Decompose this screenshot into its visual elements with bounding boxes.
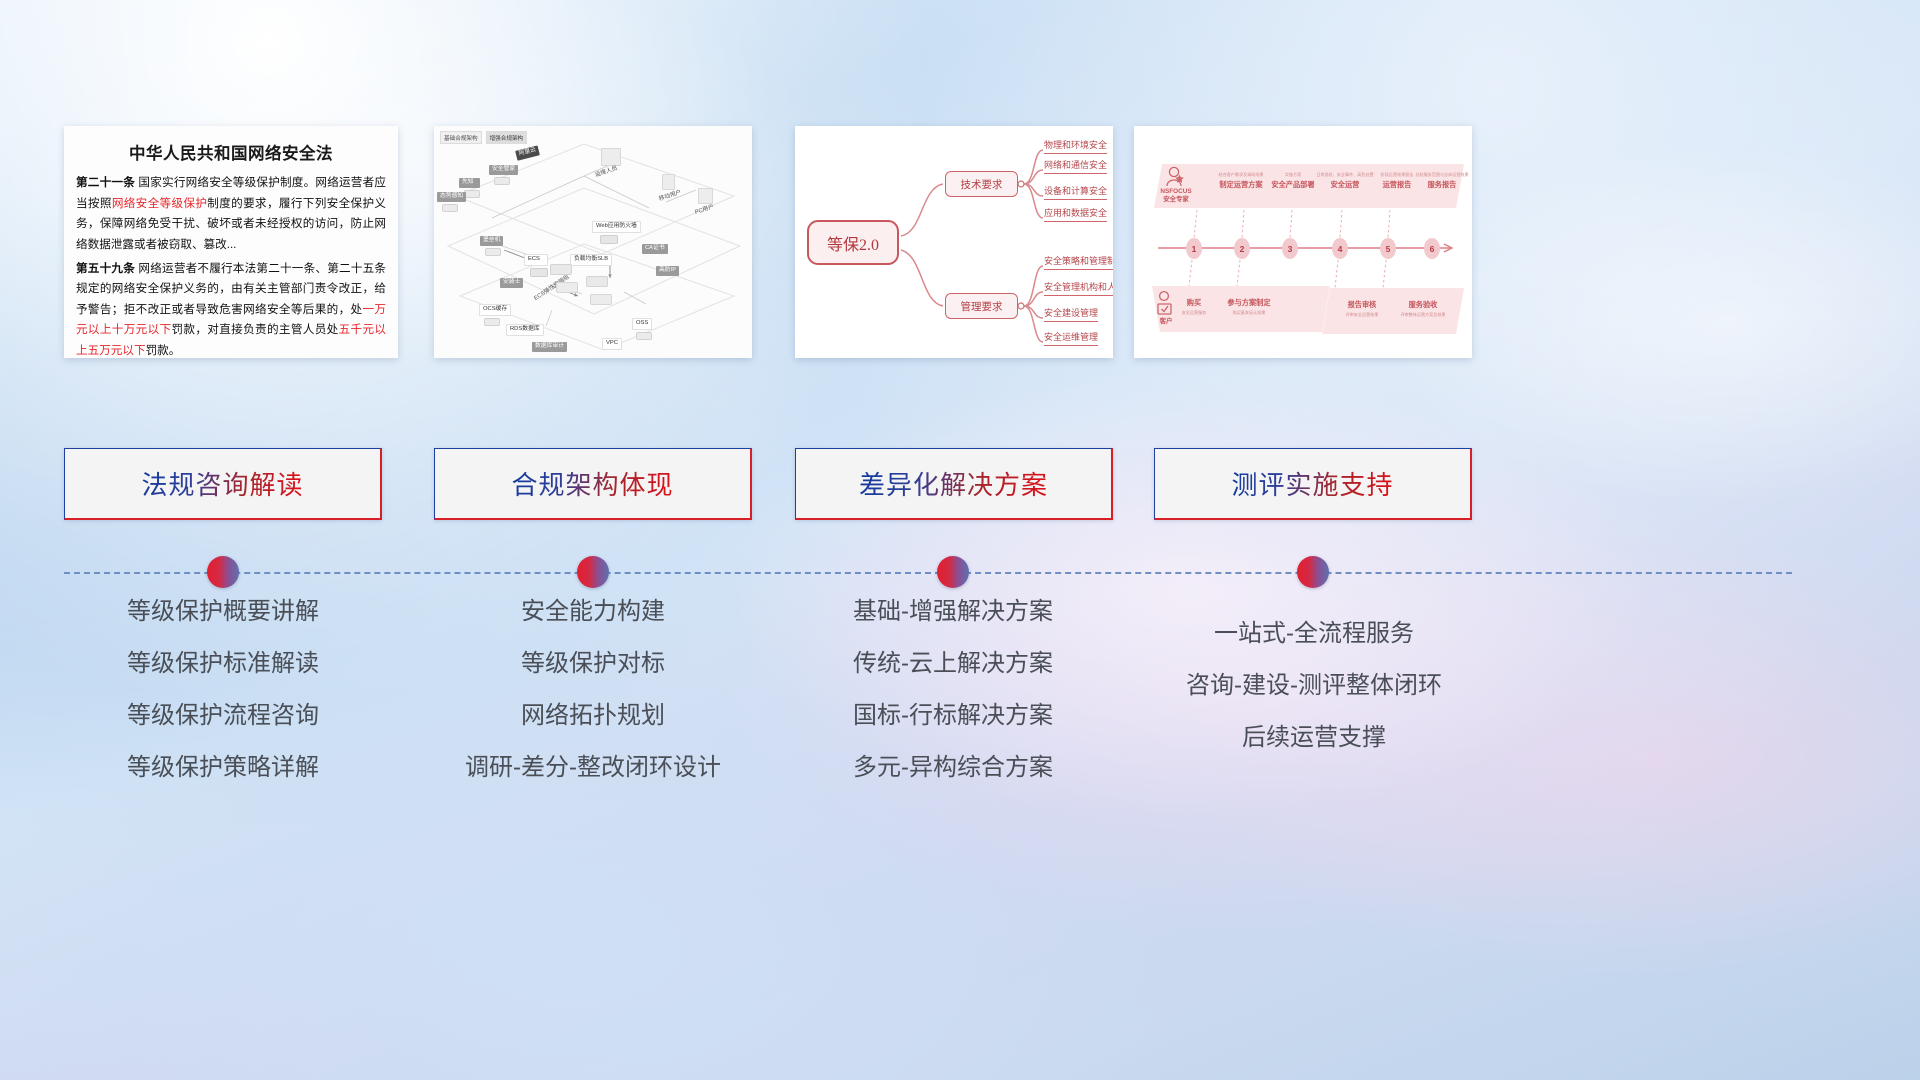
node-ocs-cache: OCS缓存 <box>479 304 511 326</box>
nsfocus-bottom-step-3-main: 报告审核 <box>1334 300 1390 310</box>
node-ocs-cache-label: OCS缓存 <box>479 304 511 316</box>
header-compliance-architecture[interactable]: 合规架构体现 <box>434 448 752 520</box>
header-regulation-consulting-label: 法规咨询解读 <box>141 465 303 502</box>
card-nsfocus-service-timeline[interactable]: NSFOCUS 安全专家 客户 结合客户需求及调研成果 制定运营方案 实施方案 … <box>1134 126 1472 358</box>
nsfocus-top-step-5-sub: 总结服务范围与总体运营效果 <box>1414 172 1470 178</box>
node-mobile-user: 移动用户 <box>656 174 685 202</box>
section-headers-row: 法规咨询解读 合规架构体现 差异化解决方案 测评实施支持 <box>0 448 1920 528</box>
node-anqishi: 安骑士 <box>500 278 523 288</box>
node-vpc: VPC <box>602 338 622 350</box>
header-regulation-consulting[interactable]: 法规咨询解读 <box>64 448 382 520</box>
node-bastion-host-label: 堡垒机 <box>480 236 503 246</box>
list-item: 多元-异构综合方案 <box>793 756 1113 780</box>
header-differentiated-solution-label: 差异化解决方案 <box>859 465 1048 502</box>
preview-cards-row: 中华人民共和国网络安全法 第二十一条 国家实行网络安全等级保护制度。网络运营者应… <box>0 0 1920 440</box>
list-item: 调研-差分-整改闭环设计 <box>433 756 753 780</box>
nsfocus-bottom-step-4-main: 服务验收 <box>1392 300 1454 310</box>
list-item: 等级保护标准解读 <box>63 652 383 676</box>
node-security-butler-label: 安全管家 <box>489 165 518 175</box>
nsfocus-brand-line2: 安全专家 <box>1152 196 1200 204</box>
timeline-dot-1[interactable] <box>207 556 239 588</box>
architecture-tabs[interactable]: 基础合规架构 增强合规架构 <box>440 131 527 144</box>
timeline-dot-4[interactable] <box>1297 556 1329 588</box>
nsfocus-bottom-step-4-sub: 评审整体运营方案及效果 <box>1392 312 1454 318</box>
article-59-label: 第五十九条 <box>76 262 135 275</box>
list-column-architecture: 安全能力构建 等级保护对标 网络拓扑规划 调研-差分-整改闭环设计 <box>433 600 753 808</box>
timeline-dot-3[interactable] <box>937 556 969 588</box>
header-assessment-support-label: 测评实施支持 <box>1231 465 1393 502</box>
card-cybersecurity-law[interactable]: 中华人民共和国网络安全法 第二十一条 国家实行网络安全等级保护制度。网络运营者应… <box>64 126 398 358</box>
mindmap-leaf-mgmt-3: 安全建设管理 <box>1044 306 1098 322</box>
nsfocus-customer-label: 客户 <box>1154 316 1178 325</box>
node-slb-label: 负载均衡SLB <box>570 254 612 266</box>
mindmap-branch-management: 管理要求 <box>945 293 1018 319</box>
node-ca-certificate: CA证书 <box>642 244 668 254</box>
node-box-c <box>586 276 608 287</box>
mindmap-branch-technical: 技术要求 <box>945 171 1018 197</box>
nsfocus-step-number-5: 5 <box>1380 238 1396 259</box>
mindmap-leaf-mgmt-2: 安全管理机构和人员 <box>1044 280 1113 296</box>
nsfocus-step-number-1: 1 <box>1186 238 1202 259</box>
node-box-b <box>556 282 578 293</box>
mindmap-root: 等保2.0 <box>807 220 899 265</box>
nsfocus-step-number-4: 4 <box>1332 238 1348 259</box>
list-item: 网络拓扑规划 <box>433 704 753 728</box>
node-anti-ddos-ip: 高防IP <box>656 266 679 276</box>
nsfocus-top-step-5: 总结服务范围与总体运营效果 服务报告 <box>1414 172 1470 190</box>
list-item: 国标-行标解决方案 <box>793 704 1113 728</box>
mindmap-leaf-tech-3: 设备和计算安全 <box>1044 184 1107 200</box>
mindmap-leaf-tech-2: 网络和通信安全 <box>1044 158 1107 174</box>
nsfocus-bottom-step-3-sub: 评审安全运营效果 <box>1334 312 1390 318</box>
node-anqishi-label: 安骑士 <box>500 278 523 288</box>
list-item: 后续运营支撑 <box>1146 726 1482 750</box>
node-rds-database-label: RDS数据库 <box>506 324 544 336</box>
timeline-dashed-line <box>64 572 1792 574</box>
nsfocus-step-number-6: 6 <box>1424 238 1440 259</box>
node-anti-ddos-ip-label: 高防IP <box>656 266 679 276</box>
nsfocus-step-number-2: 2 <box>1234 238 1250 259</box>
list-item: 咨询-建设-测评整体闭环 <box>1146 674 1482 698</box>
node-situational-awareness: 态势感知 <box>437 192 466 212</box>
node-ecs-label: ECS <box>524 254 548 266</box>
node-situational-awareness-label: 态势感知 <box>437 192 466 202</box>
header-compliance-architecture-label: 合规架构体现 <box>511 465 673 502</box>
node-ecs: ECS <box>524 254 548 277</box>
node-database-audit-label: 数据库审计 <box>532 342 567 352</box>
node-security-butler: 安全管家 <box>489 165 518 185</box>
node-slb: 负载均衡SLB <box>570 254 612 266</box>
card-compliance-architecture[interactable]: 基础合规架构 增强合规架构 阿里云 安全管家 先知 态势感知 <box>434 126 752 358</box>
nsfocus-timeline: NSFOCUS 安全专家 客户 结合客户需求及调研成果 制定运营方案 实施方案 … <box>1134 126 1472 358</box>
nsfocus-bottom-step-1-sub: 安全运营服务 <box>1174 310 1214 316</box>
nsfocus-bottom-step-2-main: 参与方案制定 <box>1218 298 1280 308</box>
tab-basic-architecture[interactable]: 基础合规架构 <box>440 131 482 144</box>
list-item: 等级保护流程咨询 <box>63 704 383 728</box>
timeline <box>0 540 1920 606</box>
nsfocus-brand: NSFOCUS 安全专家 <box>1152 188 1200 204</box>
header-differentiated-solution[interactable]: 差异化解决方案 <box>795 448 1113 520</box>
header-assessment-support[interactable]: 测评实施支持 <box>1154 448 1472 520</box>
architecture-diagram: 基础合规架构 增强合规架构 阿里云 安全管家 先知 态势感知 <box>434 126 752 358</box>
list-item: 等级保护对标 <box>433 652 753 676</box>
node-oss: OSS <box>632 318 652 340</box>
node-ca-certificate-label: CA证书 <box>642 244 668 254</box>
timeline-dot-2[interactable] <box>577 556 609 588</box>
detail-lists-row: 等级保护概要讲解 等级保护标准解读 等级保护流程咨询 等级保护策略详解 安全能力… <box>0 600 1920 830</box>
mindmap-leaf-mgmt-1: 安全策略和管理制度 <box>1044 254 1113 270</box>
nsfocus-step-number-3: 3 <box>1282 238 1298 259</box>
node-bastion-host: 堡垒机 <box>480 236 503 256</box>
list-item: 等级保护概要讲解 <box>63 600 383 624</box>
list-item: 传统-云上解决方案 <box>793 652 1113 676</box>
mindmap-leaf-tech-4: 应用和数据安全 <box>1044 206 1107 222</box>
node-oss-label: OSS <box>632 318 652 330</box>
list-item: 等级保护策略详解 <box>63 756 383 780</box>
article-21-highlight: 网络安全等级保护 <box>112 197 207 210</box>
law-body: 第二十一条 国家实行网络安全等级保护制度。网络运营者应当按照网络安全等级保护制度… <box>64 173 398 358</box>
list-column-regulation: 等级保护概要讲解 等级保护标准解读 等级保护流程咨询 等级保护策略详解 <box>63 600 383 808</box>
law-article-59: 第五十九条 网络运营者不履行本法第二十一条、第二十五条规定的网络安全保护义务的，… <box>76 259 386 359</box>
card-mindmap-dengbao[interactable]: 等保2.0 技术要求 物理和环境安全 网络和通信安全 设备和计算安全 应用和数据… <box>795 126 1113 358</box>
nsfocus-bottom-step-1: 购买 安全运营服务 <box>1174 298 1214 316</box>
node-waf: Web应用防火墙 <box>592 221 641 244</box>
list-item: 一站式-全流程服务 <box>1146 622 1482 646</box>
mindmap-leaf-tech-1: 物理和环境安全 <box>1044 138 1107 154</box>
mindmap-leaf-mgmt-4: 安全运维管理 <box>1044 330 1098 346</box>
node-rds-database: RDS数据库 <box>506 324 544 336</box>
nsfocus-bottom-step-2: 参与方案制定 购买基本因认知需 <box>1218 298 1280 316</box>
node-box-d <box>590 294 612 305</box>
slide-stage: 中华人民共和国网络安全法 第二十一条 国家实行网络安全等级保护制度。网络运营者应… <box>0 0 1920 1080</box>
list-column-solution: 基础-增强解决方案 传统-云上解决方案 国标-行标解决方案 多元-异构综合方案 <box>793 600 1113 808</box>
law-article-21: 第二十一条 国家实行网络安全等级保护制度。网络运营者应当按照网络安全等级保护制度… <box>76 173 386 256</box>
node-box-a <box>550 264 572 275</box>
node-xianzhi-label: 先知 <box>459 178 480 188</box>
tab-enhanced-architecture[interactable]: 增强合规架构 <box>486 131 528 144</box>
node-ops-personnel: 运维人员 <box>592 148 621 178</box>
nsfocus-bottom-step-1-main: 购买 <box>1174 298 1214 308</box>
list-item: 基础-增强解决方案 <box>793 600 1113 624</box>
nsfocus-shapes <box>1134 126 1472 358</box>
list-item: 安全能力构建 <box>433 600 753 624</box>
node-database-audit: 数据库审计 <box>532 342 567 352</box>
list-column-assessment: 一站式-全流程服务 咨询-建设-测评整体闭环 后续运营支撑 <box>1146 600 1482 778</box>
node-pc-user: PC用户 <box>692 188 718 216</box>
node-waf-label: Web应用防火墙 <box>592 221 641 233</box>
nsfocus-bottom-step-2-sub: 购买基本因认知需 <box>1218 310 1280 316</box>
article-21-label: 第二十一条 <box>76 176 135 189</box>
nsfocus-brand-line1: NSFOCUS <box>1152 188 1200 196</box>
mindmap: 等保2.0 技术要求 物理和环境安全 网络和通信安全 设备和计算安全 应用和数据… <box>795 126 1113 358</box>
node-vpc-label: VPC <box>602 338 622 350</box>
nsfocus-bottom-step-3: 报告审核 评审安全运营效果 <box>1334 300 1390 318</box>
article-59-part3: 罚款。 <box>146 344 181 357</box>
law-title: 中华人民共和国网络安全法 <box>64 140 398 164</box>
article-59-part2: 罚款，对直接负责的主管人员处 <box>171 323 338 336</box>
nsfocus-top-step-5-main: 服务报告 <box>1414 180 1470 190</box>
nsfocus-bottom-step-4: 服务验收 评审整体运营方案及效果 <box>1392 300 1454 318</box>
